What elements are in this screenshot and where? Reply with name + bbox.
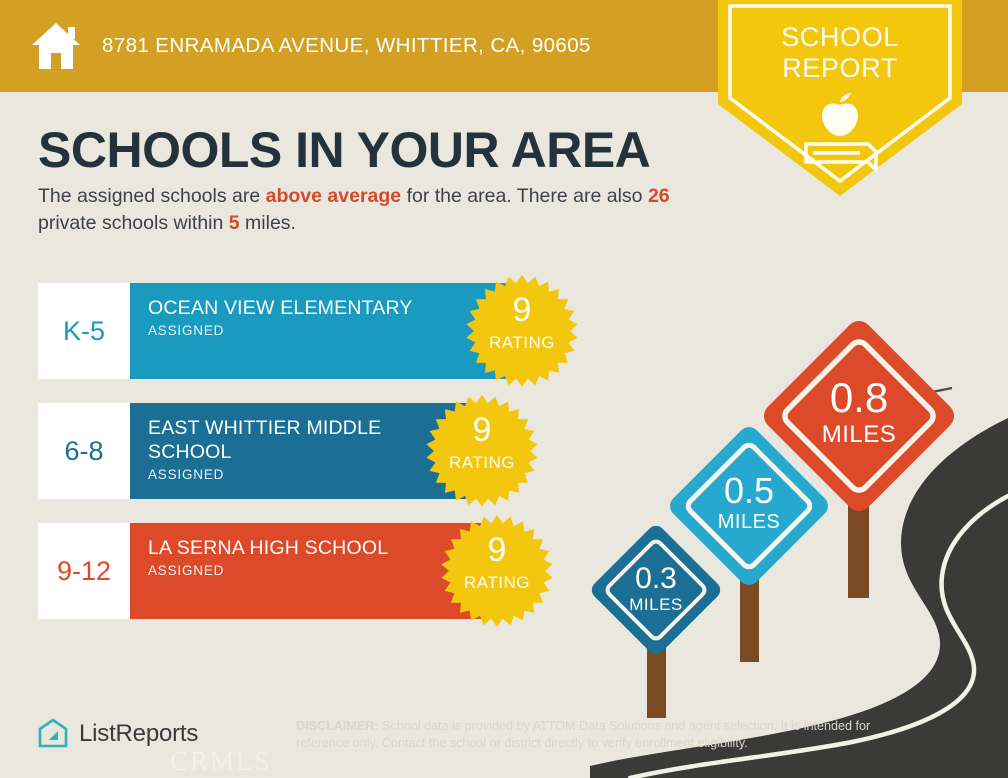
subtitle-text-2: for the area. There are also xyxy=(401,185,648,207)
sign-3-distance: 0.8 xyxy=(830,374,888,421)
listreports-logo[interactable]: ListReports xyxy=(38,718,198,750)
road-scene-illustration: 0.3 MILES 0.5 MILES 0.8 MILES xyxy=(590,300,1008,778)
sign-2-unit: MILES xyxy=(718,511,781,533)
subtitle-highlight-3: 5 xyxy=(229,212,240,234)
sign-2-distance: 0.5 xyxy=(724,470,774,511)
school-name: OCEAN VIEW ELEMENTARY xyxy=(148,296,448,320)
subtitle-highlight-2: 26 xyxy=(648,185,670,207)
listreports-name: ListReports xyxy=(79,720,198,748)
grade-range-box: K-5 xyxy=(38,283,130,379)
grade-range-box: 9-12 xyxy=(38,523,130,619)
subtitle-text-4: miles. xyxy=(240,212,296,234)
sign-3-unit: MILES xyxy=(822,421,897,448)
home-icon xyxy=(30,21,82,71)
rating-label: RATING xyxy=(466,333,578,353)
page-subtitle: The assigned schools are above average f… xyxy=(38,183,698,237)
subtitle-text-3: private schools within xyxy=(38,212,229,234)
school-status: ASSIGNED xyxy=(148,323,518,338)
page-title: SCHOOLS IN YOUR AREA xyxy=(38,119,650,181)
rating-label: RATING xyxy=(441,573,553,593)
rating-badge: 9RATING xyxy=(466,275,578,387)
school-list: K-5OCEAN VIEW ELEMENTARYASSIGNED9RATING6… xyxy=(38,283,598,643)
disclaimer-text: DISCLAIMER: School data is provided by A… xyxy=(296,718,886,752)
school-info-bar: LA SERNA HIGH SCHOOLASSIGNED xyxy=(130,523,493,619)
subtitle-text-1: The assigned schools are xyxy=(38,185,266,207)
rating-badge: 9RATING xyxy=(441,515,553,627)
rating-value: 9 xyxy=(441,533,553,567)
rating-badge: 9RATING xyxy=(426,395,538,507)
rating-value: 9 xyxy=(426,413,538,447)
header-content: 8781 ENRAMADA AVENUE, WHITTIER, CA, 9060… xyxy=(0,0,591,92)
school-row[interactable]: 6-8EAST WHITTIER MIDDLE SCHOOLASSIGNED9R… xyxy=(38,403,598,499)
school-row[interactable]: 9-12LA SERNA HIGH SCHOOLASSIGNED9RATING xyxy=(38,523,598,619)
listreports-house-icon xyxy=(38,718,68,750)
school-name: EAST WHITTIER MIDDLE SCHOOL xyxy=(148,416,448,464)
rating-value: 9 xyxy=(466,293,578,327)
school-report-badge xyxy=(718,0,962,196)
rating-label: RATING xyxy=(426,453,538,473)
property-address: 8781 ENRAMADA AVENUE, WHITTIER, CA, 9060… xyxy=(102,34,591,58)
crmls-watermark: CRMLS xyxy=(170,746,272,777)
school-info-bar: OCEAN VIEW ELEMENTARYASSIGNED xyxy=(130,283,518,379)
school-name: LA SERNA HIGH SCHOOL xyxy=(148,536,448,560)
sign-1-unit: MILES xyxy=(629,595,683,614)
disclaimer-body: School data is provided by ATTOM Data So… xyxy=(296,719,870,750)
grade-range-box: 6-8 xyxy=(38,403,130,499)
infographic-root: 8781 ENRAMADA AVENUE, WHITTIER, CA, 9060… xyxy=(0,0,1008,778)
sign-1-distance: 0.3 xyxy=(635,562,677,595)
school-row[interactable]: K-5OCEAN VIEW ELEMENTARYASSIGNED9RATING xyxy=(38,283,598,379)
subtitle-highlight-1: above average xyxy=(266,185,402,207)
disclaimer-label: DISCLAIMER: xyxy=(296,719,379,733)
